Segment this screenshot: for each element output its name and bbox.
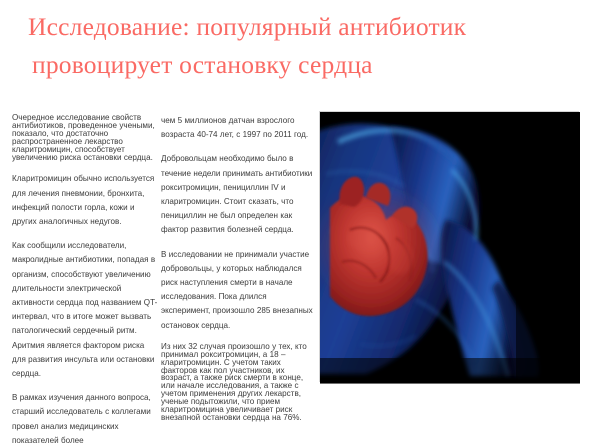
text-column-left: Очередное исследование свойств антибиоти…	[12, 114, 158, 448]
paragraph: Как сообщили исследователи, макролидные …	[12, 239, 158, 381]
title-line-2: провоцирует остановку сердца	[14, 46, 586, 84]
text-column-right: чем 5 миллионов датчан взрослого возраст…	[161, 114, 313, 422]
paragraph: Из них 32 случая произошло у тех, кто пр…	[161, 343, 313, 422]
paragraph: Кларитромицин обычно используется для ле…	[12, 172, 158, 229]
paragraph: В рамках изучения данного вопроса, старш…	[12, 391, 158, 448]
slide-canvas: Исследование: популярный антибиотик пров…	[0, 0, 600, 424]
title-line-1: Исследование: популярный антибиотик	[14, 8, 586, 46]
paragraph: Добровольцам необходимо было в течение н…	[161, 152, 313, 237]
slide-title: Исследование: популярный антибиотик пров…	[14, 8, 586, 84]
paragraph: Очередное исследование свойств антибиоти…	[12, 114, 158, 161]
paragraph: чем 5 миллионов датчан взрослого возраст…	[161, 114, 313, 142]
human-torso-heart-xray-image	[320, 112, 580, 383]
paragraph: В исследовании не принимали участие добр…	[161, 248, 313, 333]
